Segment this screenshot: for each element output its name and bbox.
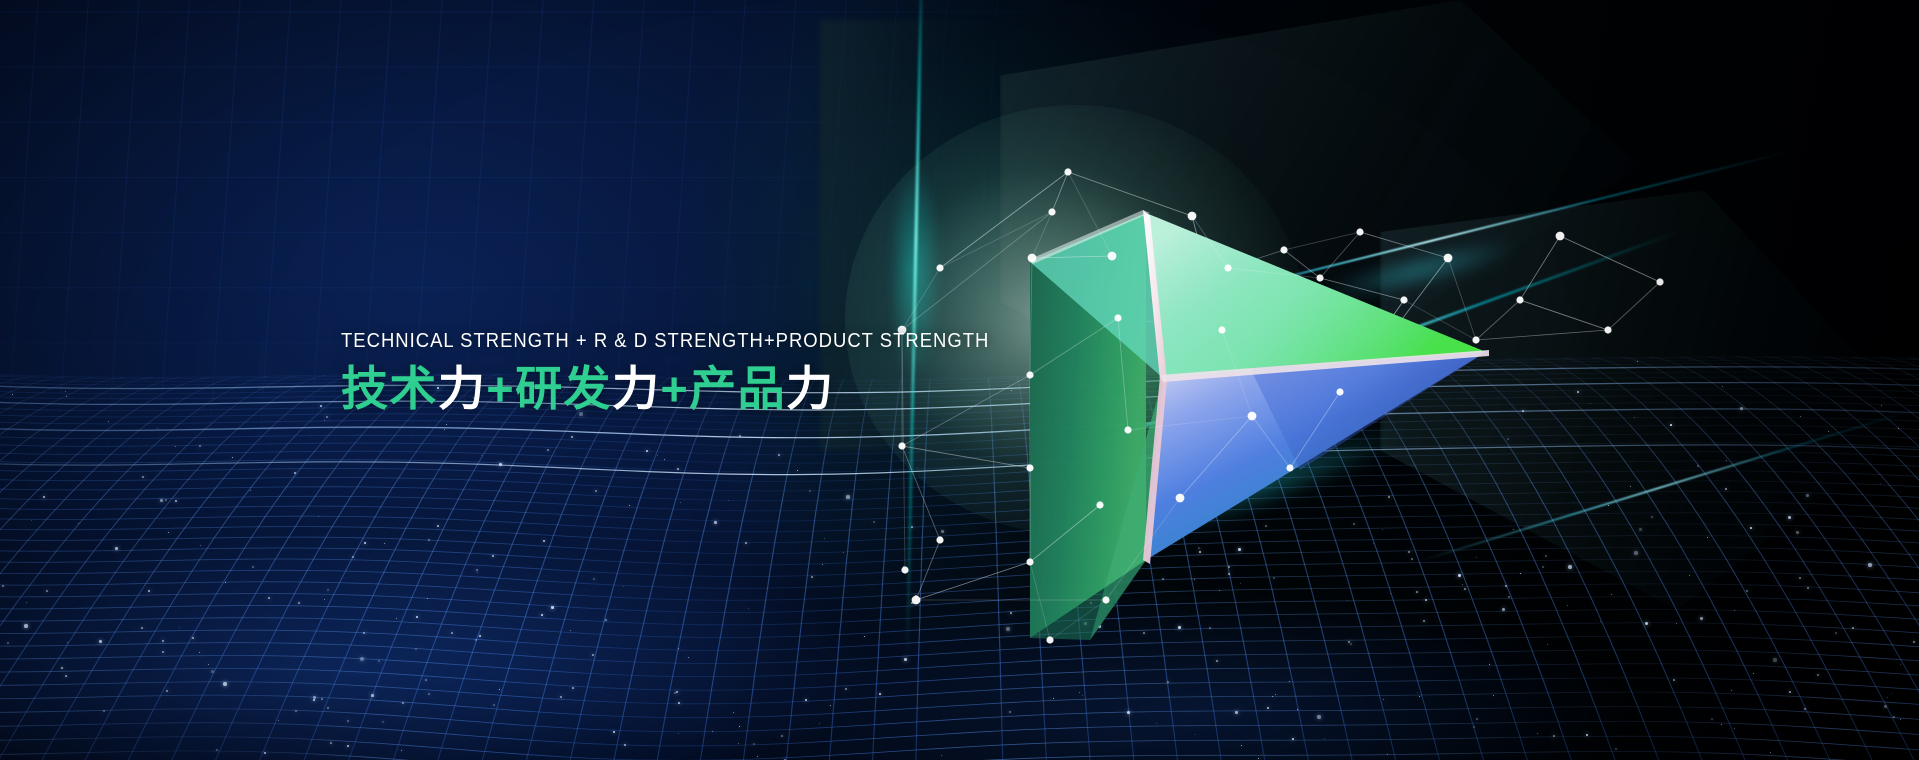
hero-headline: 技术力+研发力+产品力: [341, 361, 1061, 416]
headline-part-5: +: [660, 362, 689, 415]
headline-part-1: 力: [438, 362, 486, 415]
hero-subtitle: TECHNICAL STRENGTH + R & D STRENGTH+PROD…: [341, 330, 989, 353]
headline-part-7: 力: [786, 362, 834, 415]
headline-part-6: 产品: [689, 362, 786, 415]
hero-text-block: TECHNICAL STRENGTH + R & D STRENGTH+PROD…: [341, 330, 1061, 416]
hero-banner: TECHNICAL STRENGTH + R & D STRENGTH+PROD…: [0, 0, 1919, 760]
headline-part-4: 力: [612, 362, 660, 415]
headline-part-2: +: [486, 362, 515, 415]
headline-part-3: 研发: [515, 362, 612, 415]
headline-part-0: 技术: [341, 362, 438, 415]
